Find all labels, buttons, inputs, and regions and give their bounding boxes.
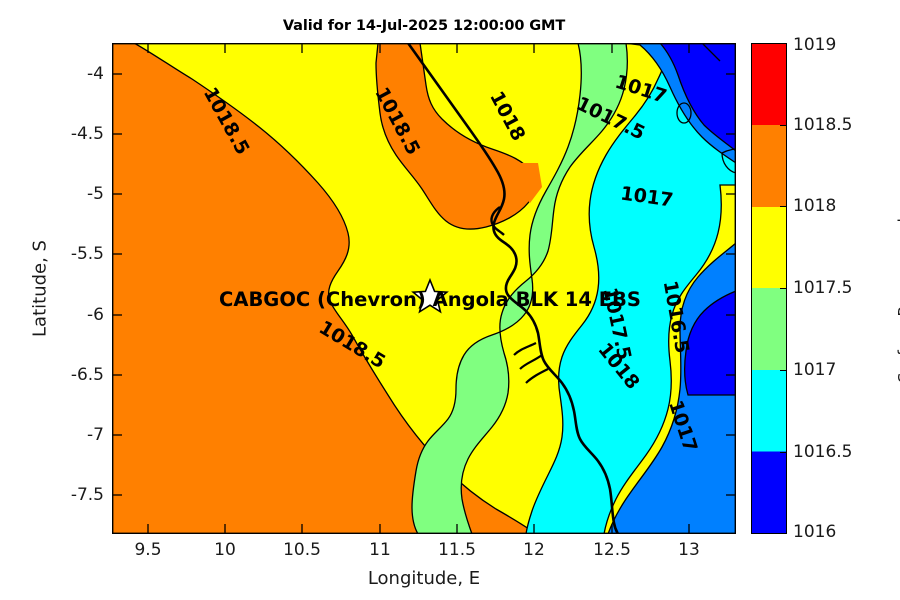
colorbar-band-1017p5-1018 <box>752 207 786 288</box>
x-tick-label: 12.5 <box>593 540 631 560</box>
colorbar-bottom-band <box>751 452 787 534</box>
colorbar-band-1017-1017p5 <box>752 288 786 369</box>
y-tick-label: -4 <box>87 64 104 84</box>
pressure-contour-figure: Valid for 14-Jul-2025 12:00:00 GMT <box>0 0 900 600</box>
y-tick-label: -6 <box>87 305 104 325</box>
x-tick-label: 11 <box>369 540 391 560</box>
colorbar-tick-label: 1016.5 <box>793 442 852 462</box>
x-tick-label: 9.5 <box>134 540 161 560</box>
colorbar-tick-labels: 1019 1018.5 1018 1017.5 1017 1016.5 1016 <box>793 43 863 534</box>
y-tick-label: -7.5 <box>71 485 104 505</box>
x-tick-label: 10.5 <box>283 540 321 560</box>
colorbar-tick-label: 1018 <box>793 196 836 216</box>
y-tick-label: -5 <box>87 184 104 204</box>
figure-title: Valid for 14-Jul-2025 12:00:00 GMT <box>0 18 848 34</box>
y-axis-label: Latitude, S <box>30 179 51 399</box>
colorbar-tick-label: 1018.5 <box>793 115 852 135</box>
colorbar-tick-label: 1016 <box>793 522 836 542</box>
colorbar-tick-label: 1017 <box>793 360 836 380</box>
y-tick-label: -5.5 <box>71 244 104 264</box>
contour-map-svg[interactable]: 1018.5 1018.5 1018 1017.5 1017 1017 1018… <box>112 43 736 534</box>
station-label: CABGOC (Chevron) Angola BLK 14 EBS <box>219 288 641 311</box>
x-tick-label: 10 <box>214 540 236 560</box>
x-tick-label: 12 <box>523 540 545 560</box>
plot-area[interactable]: 1018.5 1018.5 1018 1017.5 1017 1017 1018… <box>112 43 736 534</box>
colorbar-band-1018-1018p5 <box>752 125 786 206</box>
x-tick-label: 13 <box>678 540 700 560</box>
colorbar-tick-label: 1019 <box>793 35 836 55</box>
colorbar-band-1016p5-1017 <box>752 370 786 451</box>
x-axis-label: Longitude, E <box>112 568 736 589</box>
colorbar-axis-label: Surface Pressure, mb <box>895 178 900 418</box>
colorbar-tick-label: 1017.5 <box>793 278 852 298</box>
x-tick-label: 11.5 <box>438 540 476 560</box>
y-tick-label: -4.5 <box>71 124 104 144</box>
y-tick-label: -7 <box>87 425 104 445</box>
colorbar-band-lowest <box>752 452 786 533</box>
y-tick-label: -6.5 <box>71 365 104 385</box>
colorbar-band-1018p5-1019 <box>752 44 786 125</box>
